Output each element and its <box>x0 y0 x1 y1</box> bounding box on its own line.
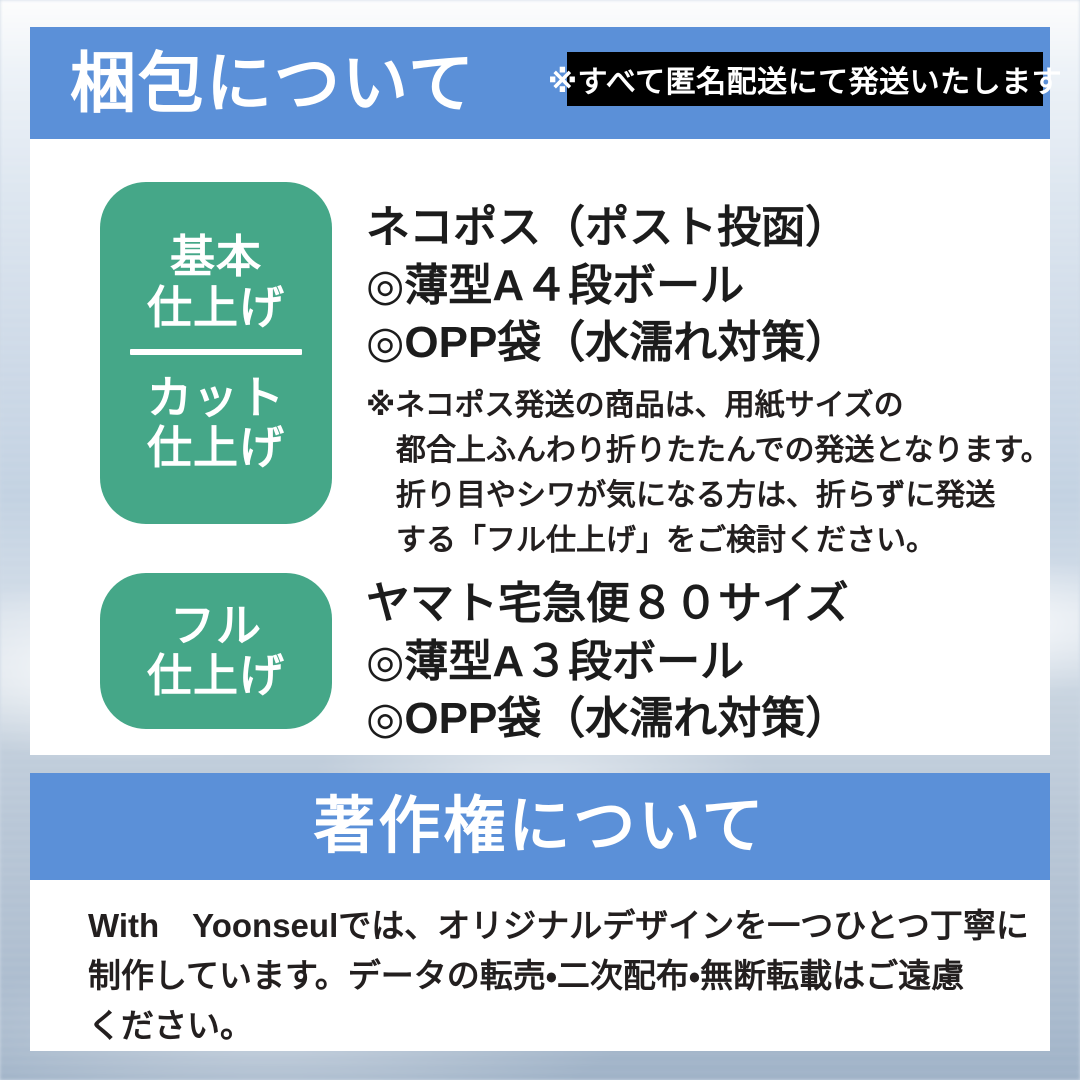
yamato-shipping-details: ヤマト宅急便８０サイズ ◎薄型A３段ボール ◎OPP袋（水濡れ対策） <box>366 575 849 748</box>
copyright-title: 著作権について <box>313 796 766 858</box>
packaging-card: 梱包について ※すべて匿名配送にて発送いたします 基本 仕上げ カット 仕上げ … <box>30 27 1050 755</box>
copyright-line-1: With Yoonseulでは、オリジナルデザインを一つひとつ丁寧に <box>88 901 1020 951</box>
pill-basic-group: 基本 仕上げ <box>147 232 285 333</box>
copyright-card: 著作権について With Yoonseulでは、オリジナルデザインを一つひとつ丁… <box>30 773 1050 1051</box>
copyright-line-3: ください。 <box>88 1001 1020 1051</box>
nekopos-note: ※ネコポス発送の商品は、用紙サイズの 都合上ふんわり折りたたんでの発送となります… <box>366 383 1051 563</box>
nekopos-shipping-details: ネコポス（ポスト投函） ◎薄型A４段ボール ◎OPP袋（水濡れ対策） <box>366 199 849 372</box>
copyright-line-2: 制作しています。データの転売・二次配布・無断転載はご遠慮 <box>88 951 1020 1001</box>
pill-basic-cut-finish: 基本 仕上げ カット 仕上げ <box>100 182 332 524</box>
pill-cut-line-2: 仕上げ <box>147 423 285 473</box>
pill-full-line-1: フル <box>170 601 262 651</box>
nekopos-note-line-2: 都合上ふんわり折りたたんでの発送となります。 <box>366 428 1051 473</box>
packaging-header-bar: 梱包について ※すべて匿名配送にて発送いたします <box>30 27 1050 139</box>
nekopos-material-box: ◎薄型A４段ボール <box>366 257 849 315</box>
nekopos-material-bag: ◎OPP袋（水濡れ対策） <box>366 314 849 372</box>
yamato-material-bag: ◎OPP袋（水濡れ対策） <box>366 690 849 748</box>
yamato-material-box: ◎薄型A３段ボール <box>366 633 849 691</box>
pill-cut-line-1: カット <box>147 373 285 423</box>
nekopos-note-line-1: ※ネコポス発送の商品は、用紙サイズの <box>366 383 1051 428</box>
copyright-body: With Yoonseulでは、オリジナルデザインを一つひとつ丁寧に 制作してい… <box>88 901 1020 1051</box>
nekopos-method: ネコポス（ポスト投函） <box>366 199 849 257</box>
anonymous-shipping-badge: ※すべて匿名配送にて発送いたします <box>567 52 1043 106</box>
nekopos-note-line-4: する「フル仕上げ」をご検討ください。 <box>366 518 1051 563</box>
pill-basic-line-2: 仕上げ <box>147 283 285 333</box>
pill-full-finish: フル 仕上げ <box>100 573 332 729</box>
nekopos-note-line-3: 折り目やシワが気になる方は、折らずに発送 <box>366 473 1051 518</box>
pill-divider <box>130 349 302 355</box>
pill-basic-line-1: 基本 <box>170 232 262 282</box>
yamato-method: ヤマト宅急便８０サイズ <box>366 575 849 633</box>
pill-cut-group: カット 仕上げ <box>147 373 285 474</box>
packaging-title: 梱包について <box>70 50 476 116</box>
pill-full-group: フル 仕上げ <box>147 601 285 702</box>
pill-full-line-2: 仕上げ <box>147 651 285 701</box>
copyright-header-bar: 著作権について <box>30 773 1050 880</box>
